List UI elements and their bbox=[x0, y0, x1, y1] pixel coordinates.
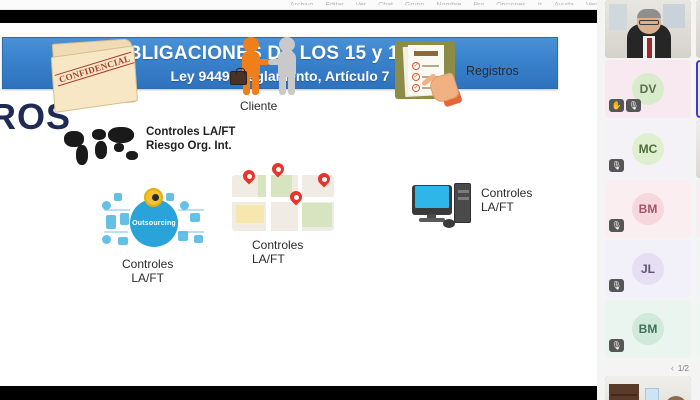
video-conference-window: Archivo Editar Ver Chat Grupo Nombre Pro… bbox=[0, 0, 700, 400]
map-pin-2 bbox=[272, 163, 284, 175]
controles-org-int-label: Controles LA/FT Riesgo Org. Int. bbox=[146, 125, 235, 153]
figure-orange bbox=[236, 37, 266, 95]
participant-tile-bm-1[interactable]: BM 🎙 bbox=[605, 180, 691, 238]
avatar: MC bbox=[632, 133, 664, 165]
menu-item-nombre[interactable]: Nombre bbox=[436, 2, 461, 9]
participant-tile-overflow-4[interactable] bbox=[696, 180, 700, 238]
mic-muted-icon: 🎙 bbox=[609, 159, 624, 172]
participant-tile-jl[interactable]: JL 🎙 bbox=[605, 240, 691, 298]
letterbox-bottom bbox=[0, 386, 597, 400]
mic-muted-icon: 🎙 bbox=[609, 219, 624, 232]
badge-group: 🎙 bbox=[609, 339, 624, 352]
participant-tile-overflow-3[interactable] bbox=[696, 120, 700, 178]
participant-pager[interactable]: ‹ 1/2 bbox=[605, 360, 691, 376]
controles-sistemas-label: Controles LA/FT bbox=[481, 186, 532, 214]
avatar: BM bbox=[632, 193, 664, 225]
participant-tile-video-1[interactable] bbox=[605, 0, 691, 58]
participant-column-overflow bbox=[696, 0, 700, 360]
participant-tile-dv[interactable]: DV ✋ 🎙 bbox=[605, 60, 691, 118]
mic-muted-icon: 🎙 bbox=[609, 279, 624, 292]
mic-muted-icon: 🎙 bbox=[626, 99, 641, 112]
video-scene-room bbox=[605, 376, 691, 400]
desktop-computer-icon bbox=[412, 183, 474, 229]
controles-mapa-label: Controles LA/FT bbox=[252, 238, 303, 266]
badge-group: 🎙 bbox=[609, 159, 624, 172]
outsourcing-core-label: Outsourcing bbox=[132, 220, 176, 227]
mic-muted-icon: 🎙 bbox=[609, 339, 624, 352]
shared-screen-region[interactable]: OBLIGACIONES DE LOS 15 y 15 BIS Ley 9449… bbox=[0, 10, 597, 400]
menu-item-ayuda[interactable]: Ayuda bbox=[554, 2, 574, 9]
user-pin-icon bbox=[144, 188, 163, 207]
pager-label: 1/2 bbox=[678, 364, 689, 373]
briefcase-icon bbox=[230, 71, 247, 85]
letterbox-top bbox=[0, 10, 597, 23]
chevron-left-icon[interactable]: ‹ bbox=[671, 363, 674, 373]
menu-item-chat[interactable]: Chat bbox=[378, 2, 393, 9]
video-scene-overflow-2 bbox=[696, 120, 700, 178]
controles-outsourcing-label: Controles LA/FT bbox=[122, 257, 173, 285]
menu-item-editar[interactable]: Editar bbox=[325, 2, 343, 9]
video-scene-office bbox=[605, 0, 691, 58]
menu-items-group: Archivo Editar Ver Chat Grupo Nombre Pro… bbox=[290, 2, 634, 9]
outsourcing-icon: Outsourcing bbox=[100, 191, 208, 253]
participant-tile-overflow-2[interactable] bbox=[696, 60, 700, 118]
participant-tile-bm-2[interactable]: BM 🎙 bbox=[605, 300, 691, 358]
badge-group: ✋ 🎙 bbox=[609, 99, 641, 112]
world-map-icon bbox=[62, 123, 142, 169]
handshake-icon bbox=[228, 33, 306, 95]
menu-item-ir[interactable]: Ir bbox=[538, 2, 542, 9]
menu-item-opciones[interactable]: Opciones bbox=[496, 2, 526, 9]
menu-item-pro[interactable]: Pro bbox=[473, 2, 484, 9]
thumbs-up-icon: ✋ bbox=[609, 99, 624, 112]
arm-gray bbox=[268, 59, 286, 65]
participant-tile-overflow-1[interactable] bbox=[696, 0, 700, 58]
participant-tile-overflow-6[interactable] bbox=[696, 300, 700, 358]
folder-icon: CONFIDENCIAL bbox=[50, 34, 141, 114]
menu-item-archivo[interactable]: Archivo bbox=[290, 2, 313, 9]
badge-group: 🎙 bbox=[609, 279, 624, 292]
participant-rail[interactable]: DV ✋ 🎙 MC 🎙 BM 🎙 JL bbox=[597, 0, 700, 400]
map-pin-4 bbox=[318, 173, 330, 185]
participant-tile-mc[interactable]: MC 🎙 bbox=[605, 120, 691, 178]
participant-tile-video-2[interactable] bbox=[605, 376, 691, 400]
application-menu-bar[interactable]: Archivo Editar Ver Chat Grupo Nombre Pro… bbox=[0, 0, 700, 10]
avatar: BM bbox=[632, 313, 664, 345]
badge-group: 🎙 bbox=[609, 219, 624, 232]
video-scene-overflow bbox=[696, 0, 700, 58]
avatar: JL bbox=[632, 253, 664, 285]
checklist-icon: ✓ ✓ ✓ bbox=[395, 41, 455, 99]
cliente-label: Cliente bbox=[240, 99, 277, 113]
participant-tile-overflow-5[interactable] bbox=[696, 240, 700, 298]
map-pin-1 bbox=[243, 170, 255, 182]
map-pin-3 bbox=[290, 191, 302, 203]
registros-label: Registros bbox=[466, 64, 519, 78]
presentation-slide: OBLIGACIONES DE LOS 15 y 15 BIS Ley 9449… bbox=[0, 23, 597, 386]
menu-item-grupo[interactable]: Grupo bbox=[405, 2, 424, 9]
menu-item-ver[interactable]: Ver bbox=[356, 2, 367, 9]
participant-column: DV ✋ 🎙 MC 🎙 BM 🎙 JL bbox=[605, 0, 691, 400]
figure-gray bbox=[272, 37, 302, 95]
